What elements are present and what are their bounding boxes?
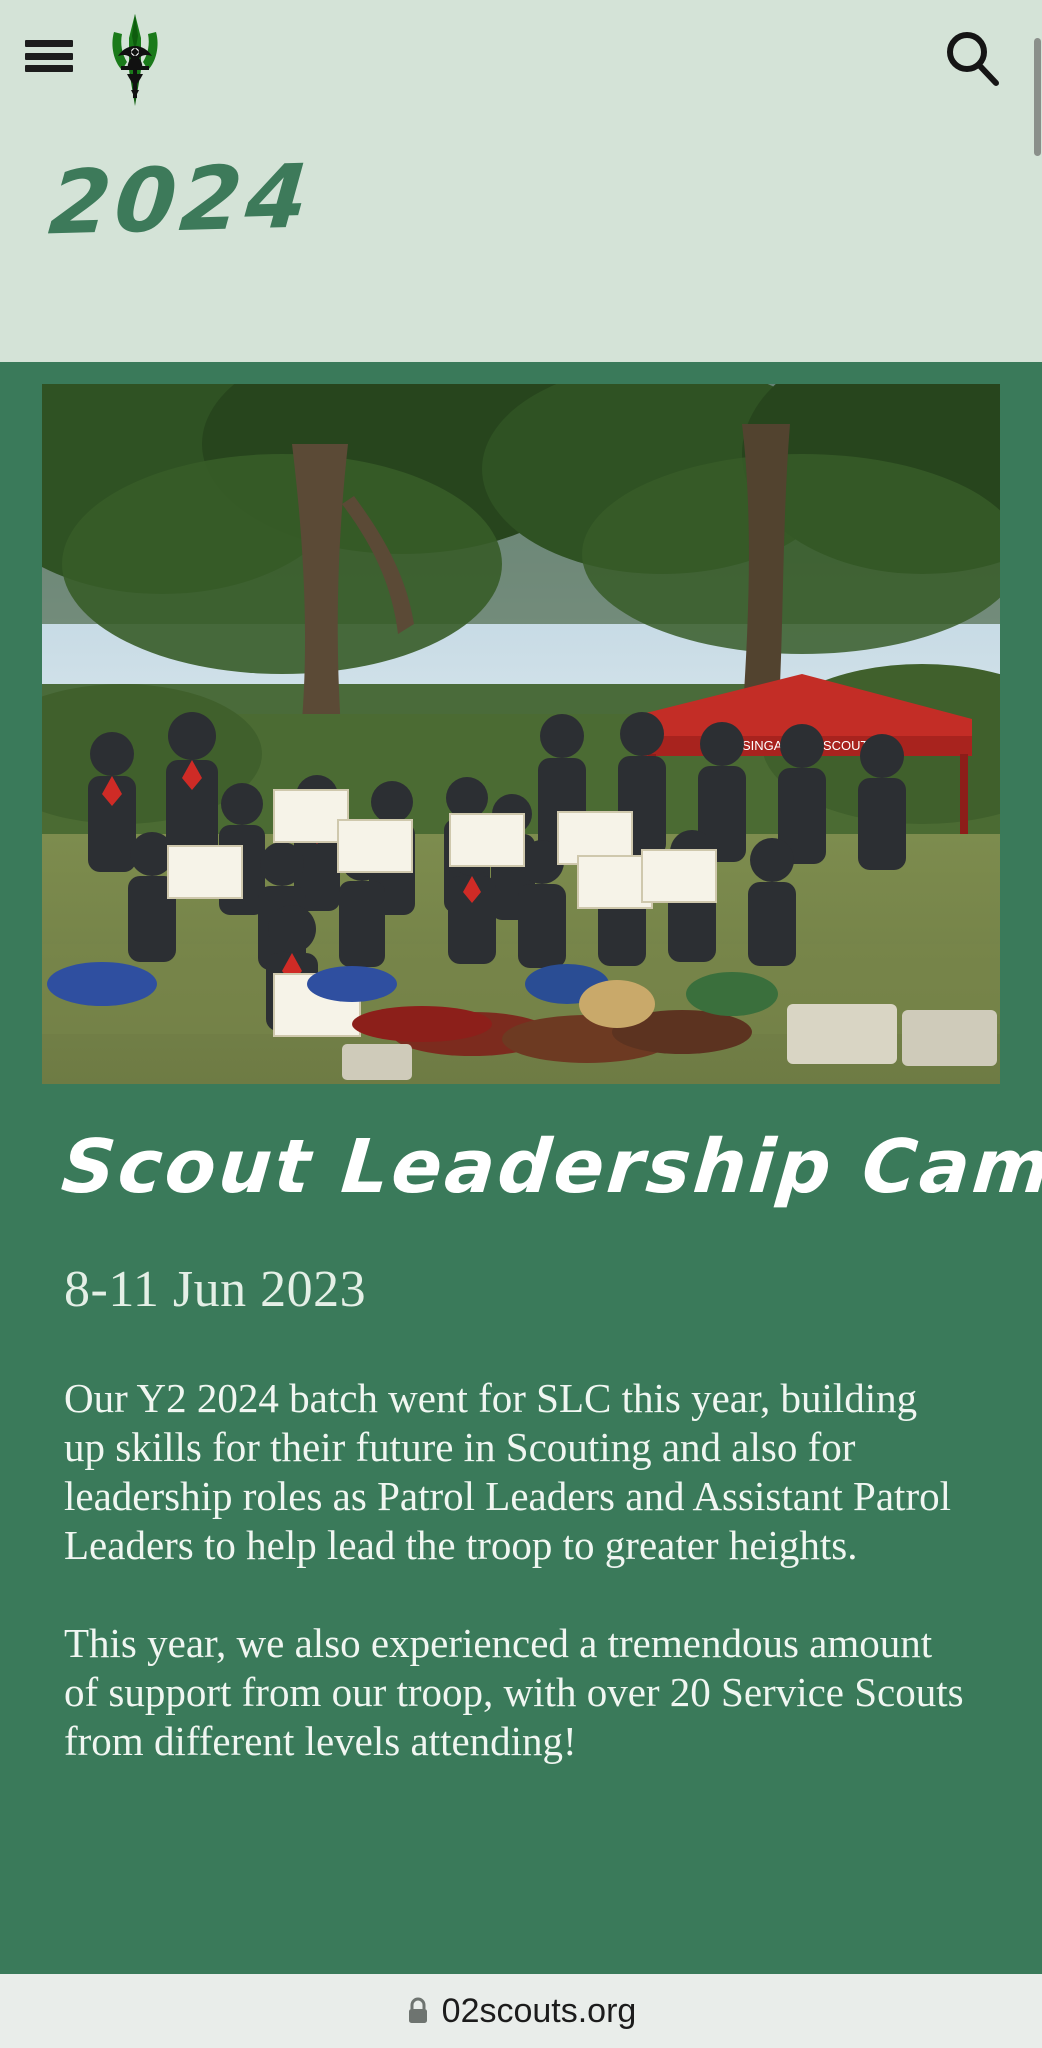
hamburger-bar-3 — [25, 65, 73, 72]
lock-icon — [406, 1997, 430, 2025]
article-body: Our Y2 2024 batch went for SLC this year… — [64, 1374, 964, 1766]
article-paragraph-2: This year, we also experienced a tremend… — [64, 1619, 964, 1766]
site-header: 2024 — [0, 0, 1042, 362]
hamburger-bar-2 — [25, 53, 73, 60]
page-title: 2024 — [46, 145, 316, 255]
scrollbar-thumb[interactable] — [1034, 38, 1041, 156]
scout-fleur-de-lis-logo[interactable] — [100, 12, 170, 108]
navigation-bar — [0, 0, 1042, 120]
article-section: SINGAPORE SCOUT — [0, 362, 1042, 1974]
article-paragraph-1: Our Y2 2024 batch went for SLC this year… — [64, 1374, 964, 1570]
url-text: 02scouts.org — [442, 1992, 637, 2031]
article-heading: Scout Leadership Camp — [58, 1124, 966, 1210]
browser-url-bar[interactable]: 02scouts.org — [0, 1974, 1042, 2048]
hamburger-bar-1 — [25, 40, 73, 47]
hamburger-menu-icon[interactable] — [25, 36, 73, 76]
page-scrollbar[interactable] — [1033, 0, 1042, 1974]
article-date: 8-11 Jun 2023 — [64, 1260, 366, 1319]
hero-image: SINGAPORE SCOUT — [42, 384, 1000, 1084]
search-icon[interactable] — [940, 26, 1004, 90]
